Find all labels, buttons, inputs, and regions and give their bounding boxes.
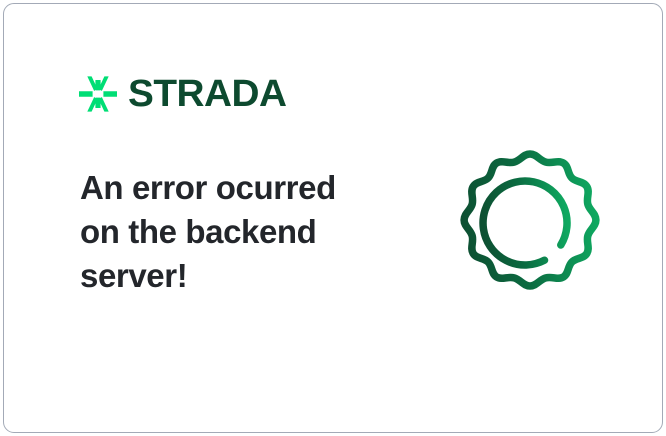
brand-wordmark: STRADA (128, 75, 286, 113)
strada-asterisk-icon (78, 74, 118, 114)
error-screen: STRADA An error ocurred on the backend s… (0, 0, 666, 436)
brand-lockup: STRADA (78, 72, 283, 116)
error-card: STRADA An error ocurred on the backend s… (3, 3, 663, 433)
error-headline: An error ocurred on the backend server! (80, 166, 380, 298)
